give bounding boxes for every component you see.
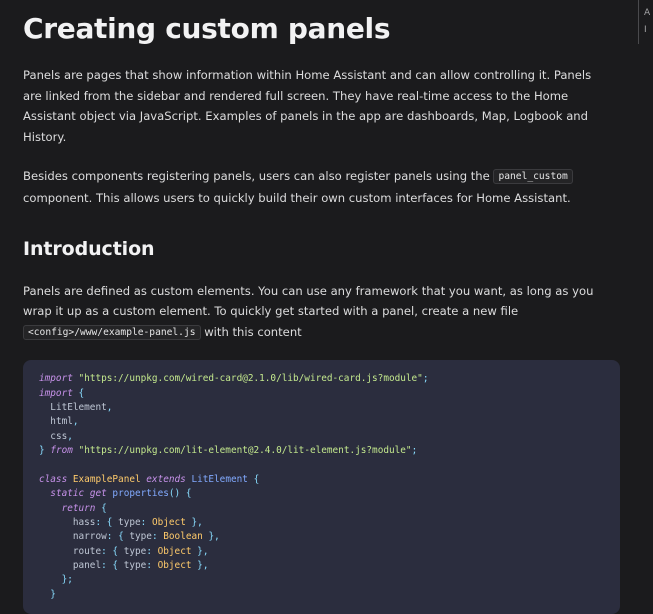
toc-list: A I [644,5,653,39]
introduction-text-before-code: Panels are defined as custom elements. Y… [23,284,593,319]
page-root: Creating custom panels Panels are pages … [0,0,653,500]
code-block-content: import "https://unpkg.com/wired-card@2.1… [23,372,620,602]
introduction-paragraph: Panels are defined as custom elements. Y… [23,281,606,344]
paragraph-text-after-code: component. This allows users to quickly … [23,191,571,205]
code-block-example-panel[interactable]: import "https://unpkg.com/wired-card@2.1… [23,360,620,614]
toc-divider [638,0,639,44]
table-of-contents-rail: A I [630,0,653,500]
page-title: Creating custom panels [23,12,606,46]
inline-code-example-panel-path: <config>/www/example-panel.js [23,325,201,340]
document-content: Creating custom panels Panels are pages … [0,0,630,500]
panel-custom-paragraph: Besides components registering panels, u… [23,166,606,208]
section-heading-introduction: Introduction [23,238,606,262]
introduction-text-after-code: with this content [204,325,302,339]
intro-paragraph: Panels are pages that show information w… [23,65,606,147]
toc-item[interactable]: I [644,22,653,39]
inline-code-panel-custom: panel_custom [493,169,572,184]
paragraph-text-before-code: Besides components registering panels, u… [23,169,490,183]
toc-item[interactable]: A [644,5,653,22]
